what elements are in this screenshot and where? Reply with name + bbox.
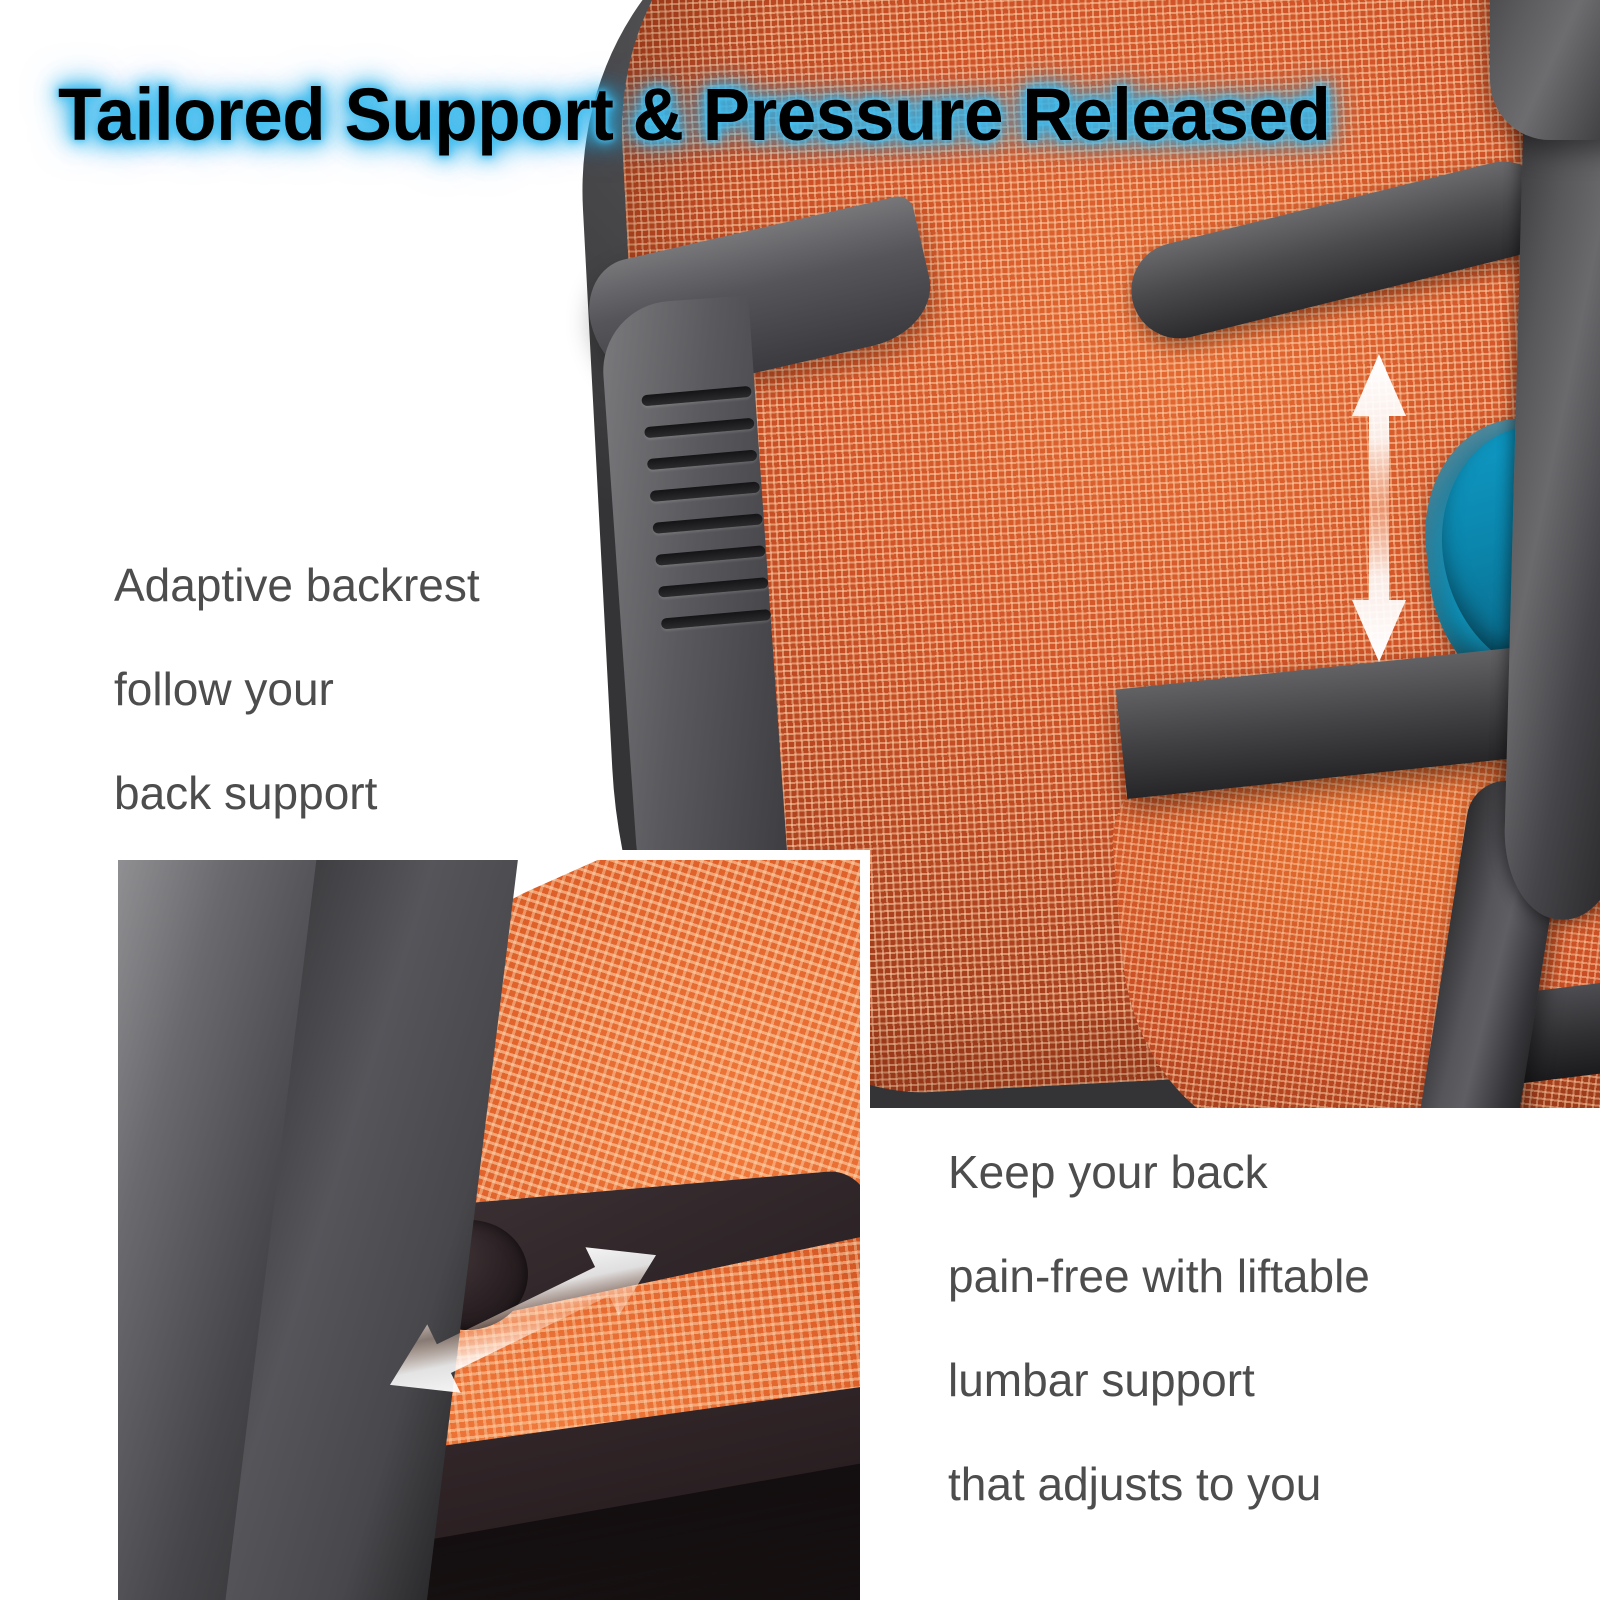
inset-detail-photo <box>118 850 870 1600</box>
caption-left-line-1: Adaptive backrest <box>114 533 480 637</box>
caption-right-line-4: that adjusts to you <box>948 1432 1370 1536</box>
caption-right-line-1: Keep your back <box>948 1120 1370 1224</box>
caption-left-line-2: follow your <box>114 637 480 741</box>
product-feature-canvas: Tailored Support & Pressure Released Ada… <box>0 0 1600 1600</box>
caption-right-line-2: pain-free with liftable <box>948 1224 1370 1328</box>
caption-right-line-3: lumbar support <box>948 1328 1370 1432</box>
frame-top-hub <box>1490 0 1600 140</box>
caption-adaptive-backrest: Adaptive backrest follow your back suppo… <box>114 533 480 845</box>
page-headline: Tailored Support & Pressure Released <box>58 72 1498 157</box>
caption-left-line-3: back support <box>114 741 480 845</box>
caption-lumbar-support: Keep your back pain-free with liftable l… <box>948 1120 1370 1536</box>
double-arrow-diagonal-icon <box>363 1230 683 1410</box>
double-arrow-vertical-icon <box>1348 352 1410 664</box>
